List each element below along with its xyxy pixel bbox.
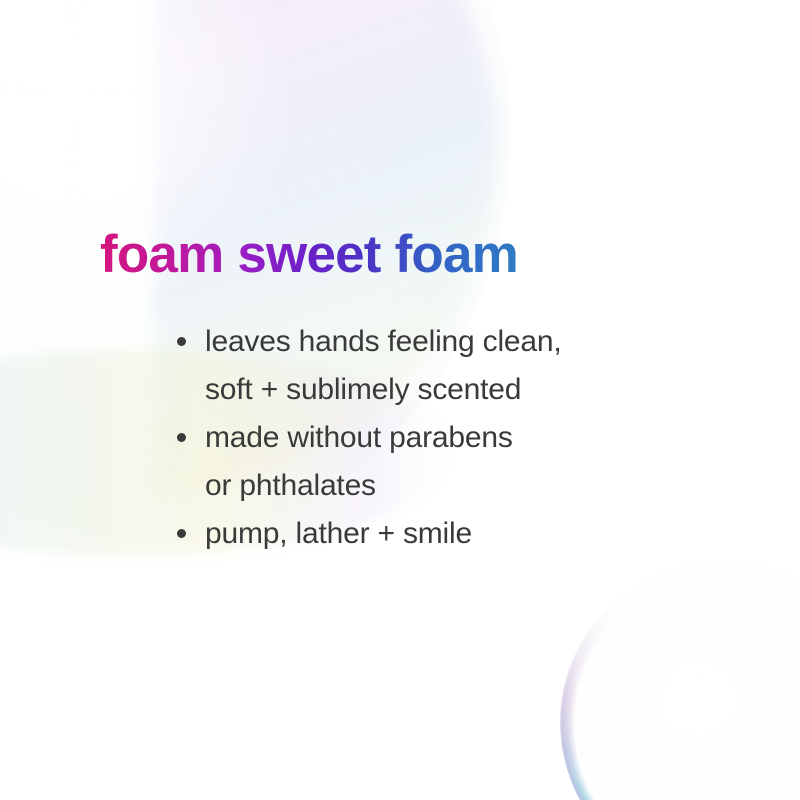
list-item-line: soft + sublimely scented [205, 366, 692, 414]
content-layer: foam sweet foam leaves hands feeling cle… [0, 0, 800, 800]
list-item: leaves hands feeling clean, soft + subli… [172, 318, 692, 414]
list-item-line: or phthalates [205, 462, 692, 510]
page-title: foam sweet foam [100, 228, 518, 281]
list-item-line: pump, lather + smile [205, 510, 692, 558]
list-item: made without parabens or phthalates [172, 414, 692, 510]
bullet-dot-icon [177, 337, 186, 346]
benefits-list: leaves hands feeling clean, soft + subli… [172, 318, 692, 558]
list-item: pump, lather + smile [172, 510, 692, 558]
bullet-dot-icon [177, 529, 186, 538]
bullet-dot-icon [177, 433, 186, 442]
list-item-line: made without parabens [205, 414, 692, 462]
list-item-line: leaves hands feeling clean, [205, 318, 692, 366]
product-benefits-card: foam sweet foam leaves hands feeling cle… [0, 0, 800, 800]
